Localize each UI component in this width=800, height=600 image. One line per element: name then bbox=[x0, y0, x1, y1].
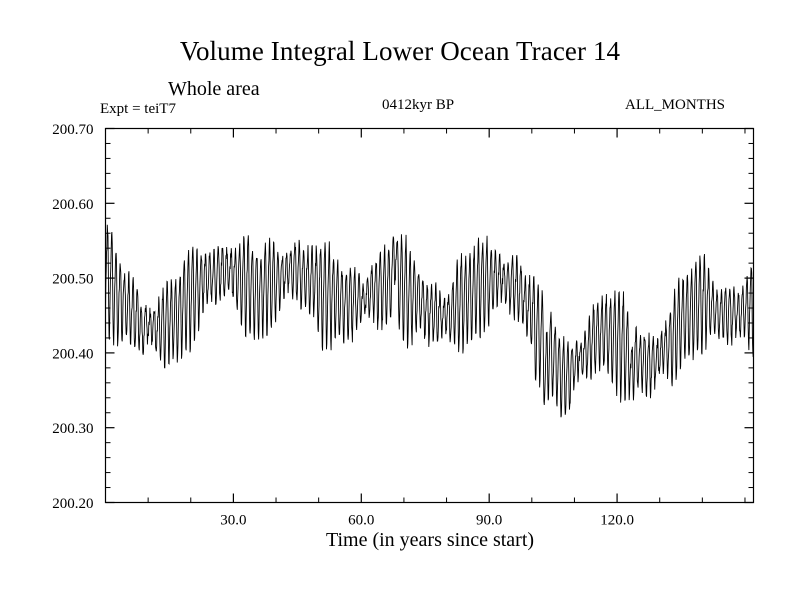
data-series-tracer14 bbox=[106, 225, 754, 417]
x-tick-label: 60.0 bbox=[348, 513, 374, 529]
y-tick-label: 200.40 bbox=[52, 346, 93, 362]
chart-page: Volume Integral Lower Ocean Tracer 14 Wh… bbox=[0, 0, 800, 600]
y-tick-label: 200.30 bbox=[52, 421, 93, 437]
series-line bbox=[106, 225, 754, 417]
plot-area: 200.20200.30200.40200.50200.60200.70 30.… bbox=[0, 0, 800, 600]
x-axis-title: Time (in years since start) bbox=[0, 529, 800, 552]
x-axis-tick-labels: 30.060.090.0120.0 bbox=[220, 513, 634, 529]
x-tick-label: 90.0 bbox=[476, 513, 502, 529]
y-axis-tick-labels: 200.20200.30200.40200.50200.60200.70 bbox=[52, 122, 93, 512]
y-tick-label: 200.20 bbox=[52, 496, 93, 512]
y-tick-label: 200.70 bbox=[52, 122, 93, 138]
x-tick-label: 120.0 bbox=[600, 513, 634, 529]
y-tick-label: 200.50 bbox=[52, 272, 93, 288]
x-tick-label: 30.0 bbox=[220, 513, 246, 529]
y-tick-label: 200.60 bbox=[52, 197, 93, 213]
